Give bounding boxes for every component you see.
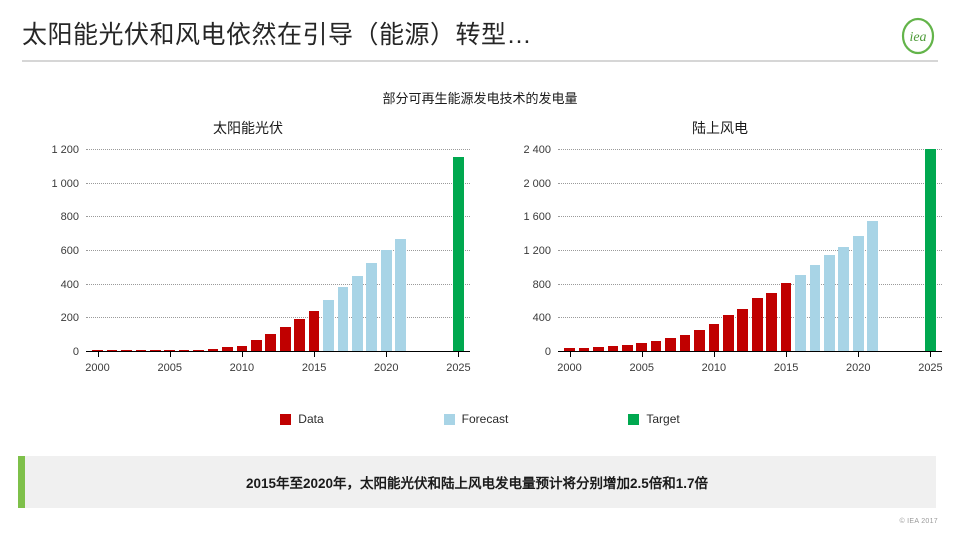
x-axis-tick-mark	[714, 352, 715, 357]
bar-data-2003[interactable]	[608, 346, 619, 351]
x-axis-tick-label: 2015	[774, 362, 798, 374]
y-axis-tick-label: 800	[61, 211, 79, 223]
bar-forecast-2021[interactable]	[395, 239, 406, 351]
gridline	[558, 183, 942, 184]
chart-title-solar-pv: 太阳能光伏	[18, 118, 478, 138]
plot-inner-onshore-wind: 04008001 2001 6002 0002 4002000200520102…	[558, 150, 942, 352]
legend-item-forecast[interactable]: Forecast	[444, 412, 509, 426]
bar-data-2011[interactable]	[251, 340, 262, 351]
gridline	[86, 183, 470, 184]
charts-title: 部分可再生能源发电技术的发电量	[0, 88, 960, 107]
plot-inner-solar-pv: 02004006008001 0001 20020002005201020152…	[86, 150, 470, 352]
bar-forecast-2017[interactable]	[338, 287, 349, 351]
bar-target-2025[interactable]	[925, 149, 936, 351]
bar-data-2013[interactable]	[280, 327, 291, 351]
x-axis-tick-mark	[314, 352, 315, 357]
x-axis-tick-label: 2015	[302, 362, 326, 374]
gridline	[86, 284, 470, 285]
x-axis-tick-mark	[858, 352, 859, 357]
gridline	[86, 250, 470, 251]
bar-data-2009[interactable]	[222, 347, 233, 351]
bar-data-2002[interactable]	[593, 347, 604, 351]
iea-logo: iea	[898, 16, 938, 56]
x-axis-tick-mark	[642, 352, 643, 357]
bar-forecast-2016[interactable]	[323, 300, 334, 351]
bar-forecast-2021[interactable]	[867, 221, 878, 351]
legend-label-forecast: Forecast	[462, 412, 509, 426]
bar-data-2003[interactable]	[136, 350, 147, 351]
x-axis-tick-mark	[786, 352, 787, 357]
x-axis-tick-mark	[386, 352, 387, 357]
y-axis-tick-label: 0	[545, 346, 551, 358]
bar-data-2001[interactable]	[107, 350, 118, 351]
x-axis-line	[86, 351, 470, 352]
bar-forecast-2019[interactable]	[366, 263, 377, 351]
legend-item-data[interactable]: Data	[280, 412, 323, 426]
gridline	[86, 149, 470, 150]
y-axis-tick-label: 600	[61, 245, 79, 257]
chart-panel-onshore-wind: 陆上风电 04008001 2001 6002 0002 40020002005…	[490, 118, 950, 388]
bar-data-2010[interactable]	[237, 346, 248, 351]
bar-forecast-2020[interactable]	[853, 236, 864, 351]
gridline	[558, 149, 942, 150]
header-divider	[22, 60, 938, 62]
plot-area-onshore-wind: 04008001 2001 6002 0002 4002000200520102…	[558, 150, 942, 352]
bar-data-2005[interactable]	[164, 350, 175, 351]
chart-panel-solar-pv: 太阳能光伏 02004006008001 0001 20020002005201…	[18, 118, 478, 388]
x-axis-tick-mark	[170, 352, 171, 357]
gridline	[558, 284, 942, 285]
bar-data-2000[interactable]	[564, 348, 575, 351]
bar-data-2015[interactable]	[781, 283, 792, 351]
slide-header: 太阳能光伏和风电依然在引导（能源）转型… iea	[0, 0, 960, 62]
bar-data-2012[interactable]	[265, 334, 276, 351]
bar-data-2009[interactable]	[694, 330, 705, 351]
plot-area-solar-pv: 02004006008001 0001 20020002005201020152…	[86, 150, 470, 352]
y-axis-tick-label: 0	[73, 346, 79, 358]
bar-data-2004[interactable]	[622, 345, 633, 351]
y-axis-tick-label: 800	[533, 279, 551, 291]
legend-item-target[interactable]: Target	[628, 412, 679, 426]
copyright-notice: © IEA 2017	[899, 518, 938, 525]
bar-data-2015[interactable]	[309, 311, 320, 351]
bar-forecast-2017[interactable]	[810, 265, 821, 351]
slide: 太阳能光伏和风电依然在引导（能源）转型… iea 部分可再生能源发电技术的发电量…	[0, 0, 960, 540]
bar-data-2006[interactable]	[651, 341, 662, 351]
legend-swatch-forecast	[444, 414, 455, 425]
gridline	[558, 216, 942, 217]
y-axis-tick-label: 1 000	[51, 178, 79, 190]
x-axis-tick-mark	[242, 352, 243, 357]
legend-label-target: Target	[646, 412, 679, 426]
x-axis-tick-label: 2010	[702, 362, 726, 374]
y-axis-tick-label: 2 000	[523, 178, 551, 190]
bar-data-2010[interactable]	[709, 324, 720, 351]
bar-data-2001[interactable]	[579, 348, 590, 351]
gridline	[86, 317, 470, 318]
svg-text:iea: iea	[909, 30, 926, 45]
bar-data-2004[interactable]	[150, 350, 161, 351]
y-axis-tick-label: 1 200	[51, 144, 79, 156]
bar-data-2008[interactable]	[680, 335, 691, 351]
x-axis-tick-label: 2020	[846, 362, 870, 374]
bar-data-2006[interactable]	[179, 350, 190, 351]
bar-data-2012[interactable]	[737, 309, 748, 351]
gridline	[558, 317, 942, 318]
bar-forecast-2016[interactable]	[795, 275, 806, 351]
x-axis-tick-mark	[570, 352, 571, 357]
bar-data-2014[interactable]	[294, 319, 305, 351]
x-axis-tick-label: 2005	[629, 362, 653, 374]
legend-label-data: Data	[298, 412, 323, 426]
bar-forecast-2018[interactable]	[824, 255, 835, 351]
gridline	[558, 250, 942, 251]
y-axis-tick-label: 400	[61, 279, 79, 291]
bar-data-2014[interactable]	[766, 293, 777, 351]
x-axis-tick-label: 2025	[446, 362, 470, 374]
chart-legend: DataForecastTarget	[0, 412, 960, 426]
bar-data-2013[interactable]	[752, 298, 763, 351]
bar-data-2011[interactable]	[723, 315, 734, 351]
caption-box: 2015年至2020年，太阳能光伏和陆上风电发电量预计将分别增加2.5倍和1.7…	[18, 456, 936, 508]
bar-forecast-2018[interactable]	[352, 276, 363, 351]
gridline	[86, 216, 470, 217]
legend-swatch-target	[628, 414, 639, 425]
y-axis-tick-label: 2 400	[523, 144, 551, 156]
x-axis-tick-label: 2000	[557, 362, 581, 374]
bar-data-2007[interactable]	[193, 350, 204, 351]
x-axis-tick-label: 2020	[374, 362, 398, 374]
bar-data-2002[interactable]	[121, 350, 132, 351]
caption-text: 2015年至2020年，太阳能光伏和陆上风电发电量预计将分别增加2.5倍和1.7…	[25, 472, 936, 492]
bar-data-2008[interactable]	[208, 349, 219, 351]
x-axis-line	[558, 351, 942, 352]
bar-forecast-2019[interactable]	[838, 247, 849, 351]
x-axis-tick-mark	[458, 352, 459, 357]
x-axis-tick-mark	[98, 352, 99, 357]
chart-title-onshore-wind: 陆上风电	[490, 118, 950, 138]
bar-target-2025[interactable]	[453, 157, 464, 351]
caption-accent-bar	[18, 456, 25, 508]
bar-data-2007[interactable]	[665, 338, 676, 351]
bar-data-2005[interactable]	[636, 343, 647, 351]
x-axis-tick-mark	[930, 352, 931, 357]
page-title: 太阳能光伏和风电依然在引导（能源）转型…	[22, 15, 532, 51]
x-axis-tick-label: 2000	[85, 362, 109, 374]
bar-forecast-2020[interactable]	[381, 250, 392, 351]
x-axis-tick-label: 2010	[230, 362, 254, 374]
y-axis-tick-label: 400	[533, 312, 551, 324]
x-axis-tick-label: 2005	[157, 362, 181, 374]
y-axis-tick-label: 200	[61, 312, 79, 324]
bar-data-2000[interactable]	[92, 350, 103, 351]
y-axis-tick-label: 1 600	[523, 211, 551, 223]
legend-swatch-data	[280, 414, 291, 425]
y-axis-tick-label: 1 200	[523, 245, 551, 257]
x-axis-tick-label: 2025	[918, 362, 942, 374]
